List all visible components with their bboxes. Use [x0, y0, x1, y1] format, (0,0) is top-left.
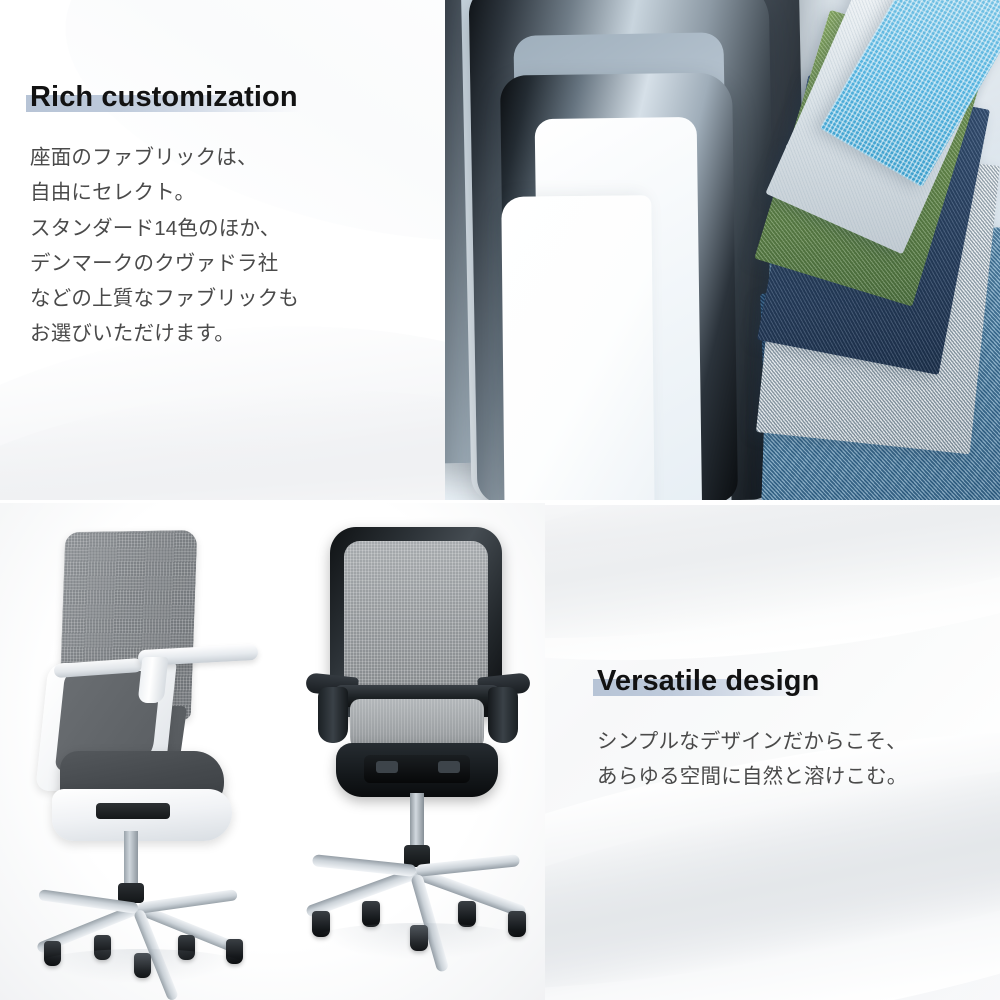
- chair-back-panel-white: [501, 195, 654, 500]
- top-headline-wrap: Rich customization: [30, 80, 298, 114]
- chair-white-armrest-post: [138, 657, 169, 703]
- top-headline: Rich customization: [30, 80, 298, 114]
- top-body-line-4: デンマークのクヴァドラ社: [30, 246, 430, 281]
- chair-white-floor-reflection: [34, 949, 246, 983]
- bottom-body-copy: シンプルなデザインだからこそ、 あらゆる空間に自然と溶けこむ。: [597, 698, 997, 795]
- top-body-line-1: 座面のファブリックは、: [30, 140, 430, 175]
- fabric-swatch-fan: [700, 14, 1000, 500]
- chair-white-frame: [18, 521, 268, 961]
- chair-white-base: [26, 895, 252, 955]
- top-body-line-2: 自由にセレクト。: [30, 175, 430, 210]
- bottom-headline: Versatile design: [597, 664, 819, 698]
- chair-black-armrest-post-left: [318, 687, 348, 743]
- top-section: Rich customization 座面のファブリックは、 自由にセレクト。 …: [0, 0, 1000, 500]
- photo-chair-frames-fabrics: [445, 0, 1000, 500]
- top-body-line-6: お選びいただけます。: [30, 316, 430, 351]
- chair-black-mechanism-vent-right: [438, 761, 460, 773]
- chair-black-caster-2: [362, 901, 380, 927]
- chair-white-gas-column: [124, 831, 138, 891]
- chair-black-armrest-post-right: [488, 687, 518, 743]
- chair-white-leg-4: [137, 889, 238, 914]
- bottom-body-line-2: あらゆる空間に自然と溶けこむ。: [597, 759, 997, 794]
- bottom-body-line-1: シンプルなデザインだからこそ、: [597, 724, 997, 759]
- photo-two-office-chairs: [0, 503, 545, 1000]
- top-body-copy: 座面のファブリックは、 自由にセレクト。 スタンダード14色のほか、 デンマーク…: [30, 114, 430, 352]
- chair-black-frame: [292, 515, 542, 961]
- chair-black-leg-5: [312, 854, 417, 877]
- chair-black-leg-4: [415, 854, 520, 877]
- chair-black-caster-4: [458, 901, 476, 927]
- bottom-text-block: Versatile design シンプルなデザインだからこそ、 あらゆる空間に…: [597, 664, 997, 795]
- top-body-line-5: などの上質なファブリックも: [30, 281, 430, 316]
- top-text-block: Rich customization 座面のファブリックは、 自由にセレクト。 …: [30, 80, 430, 352]
- product-feature-page: Rich customization 座面のファブリックは、 自由にセレクト。 …: [0, 0, 1000, 1000]
- top-body-line-3: スタンダード14色のほか、: [30, 211, 430, 246]
- chair-black-base: [298, 859, 536, 929]
- chair-black-floor-reflection: [310, 923, 526, 959]
- chair-black-mesh-back: [344, 541, 488, 701]
- chair-black-mechanism-vent-left: [376, 761, 398, 773]
- chair-white-tilt-mechanism: [96, 803, 170, 819]
- bottom-headline-wrap: Versatile design: [597, 664, 819, 698]
